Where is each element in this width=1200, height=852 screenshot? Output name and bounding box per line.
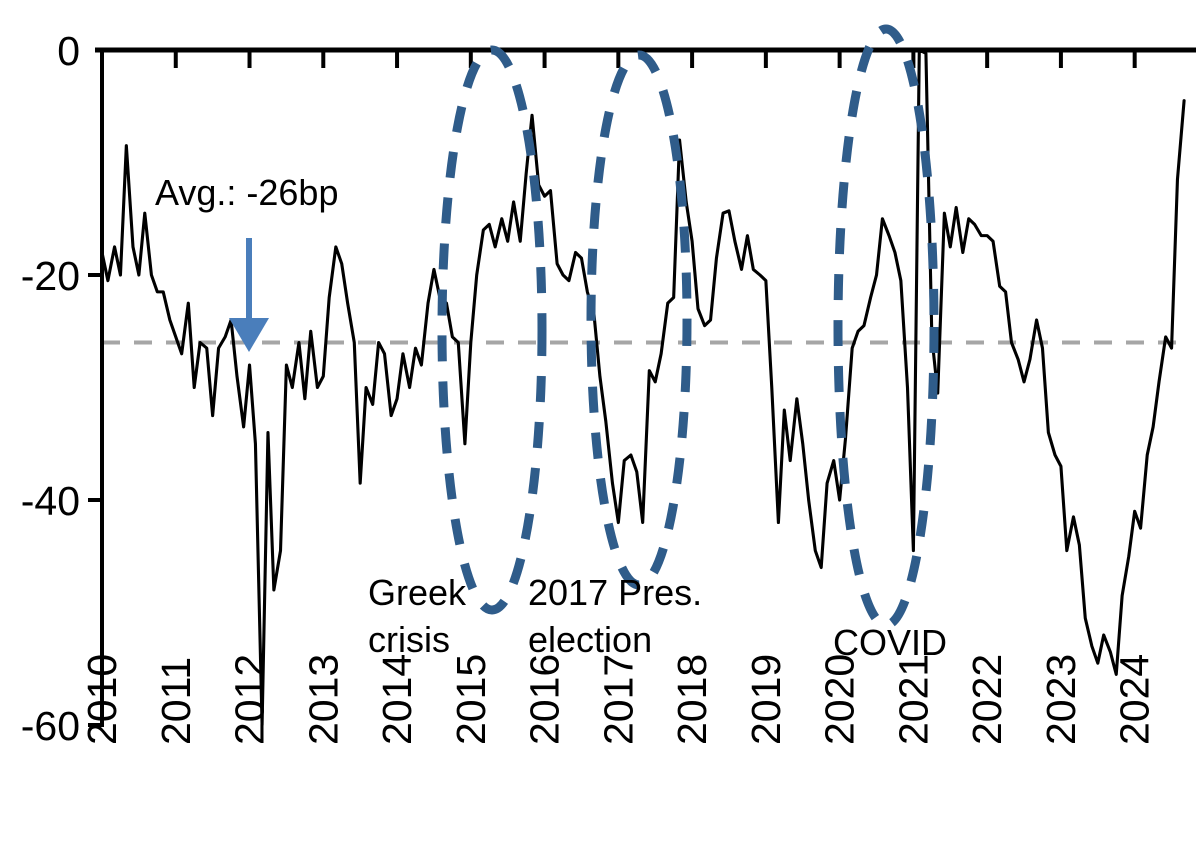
election-label-line1: 2017 Pres.	[528, 572, 702, 613]
x-axis-labels: 2010201120122013201420152016201720182019…	[79, 654, 1158, 745]
greek-crisis-label-line2: crisis	[368, 619, 450, 660]
x-tick-label-2010: 2010	[79, 654, 125, 745]
x-tick-label-2019: 2019	[743, 654, 789, 745]
x-tick-label-2022: 2022	[964, 654, 1010, 745]
chart-container: 0 -20 -40 -60 20102011201220132014201520…	[0, 0, 1200, 852]
x-tick-label-2012: 2012	[227, 654, 273, 745]
x-tick-label-2018: 2018	[669, 654, 715, 745]
x-tick-label-2011: 2011	[153, 657, 199, 745]
line-chart: 0 -20 -40 -60 20102011201220132014201520…	[0, 0, 1200, 852]
x-tick-label-2020: 2020	[817, 654, 863, 745]
x-tick-label-2016: 2016	[522, 654, 568, 745]
average-annotation-label: Avg.: -26bp	[155, 172, 338, 213]
y-tick-label-minus20: -20	[21, 253, 80, 299]
covid-label: COVID	[833, 622, 947, 663]
x-tick-label-2021: 2021	[890, 654, 936, 745]
x-tick-label-2017: 2017	[595, 654, 641, 745]
x-tick-label-2024: 2024	[1112, 654, 1158, 745]
y-tick-label-0: 0	[57, 28, 80, 74]
y-tick-label-minus60: -60	[21, 703, 80, 749]
x-tick-label-2015: 2015	[448, 654, 494, 745]
y-tick-label-minus40: -40	[21, 478, 80, 524]
election-label-line2: election	[528, 619, 652, 660]
x-tick-label-2013: 2013	[300, 654, 346, 745]
x-tick-label-2023: 2023	[1038, 654, 1084, 745]
greek-crisis-label-line1: Greek	[368, 572, 467, 613]
x-tick-label-2014: 2014	[374, 654, 420, 745]
